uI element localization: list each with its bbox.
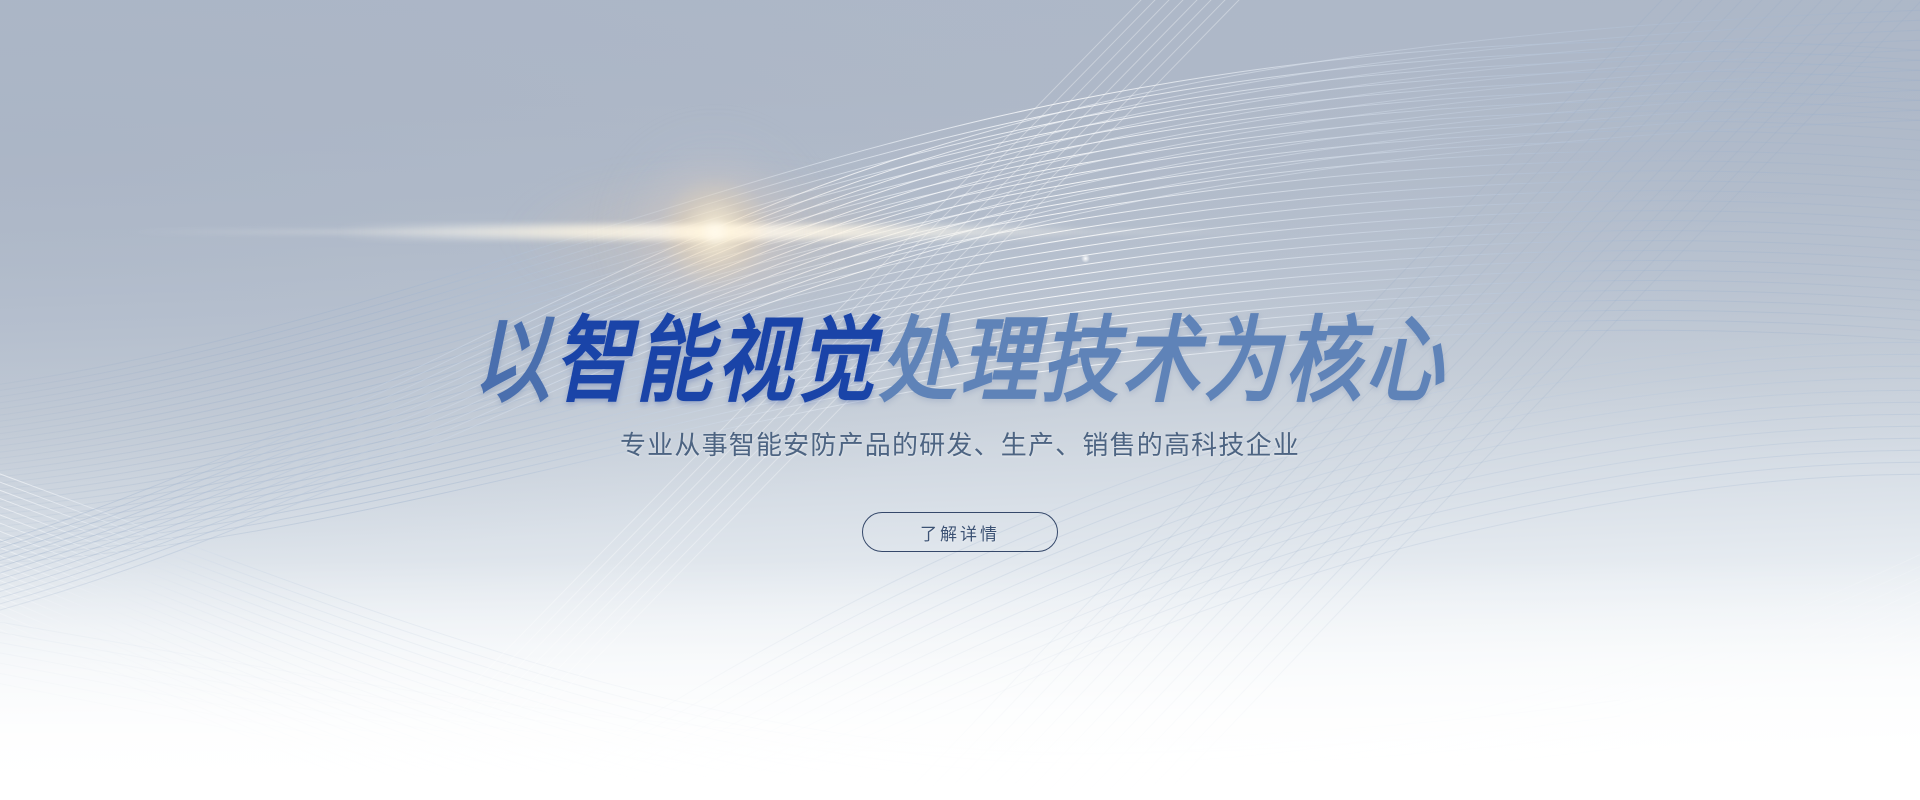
headline-segment-3: 处理技术为核心 xyxy=(879,308,1447,414)
page-title: 以智能视觉处理技术为核心 xyxy=(10,314,1911,408)
page-subtitle: 专业从事智能安防产品的研发、生产、销售的高科技企业 xyxy=(0,430,1920,461)
learn-more-button[interactable]: 了解详情 xyxy=(862,512,1058,552)
headline-segment-1: 以 xyxy=(473,308,554,414)
hero-banner: 以智能视觉处理技术为核心 专业从事智能安防产品的研发、生产、销售的高科技企业 了… xyxy=(0,0,1920,800)
headline-segment-2: 智能视觉 xyxy=(554,308,879,414)
hero-content: 以智能视觉处理技术为核心 专业从事智能安防产品的研发、生产、销售的高科技企业 了… xyxy=(0,0,1920,800)
cta-container: 了解详情 xyxy=(0,512,1920,552)
